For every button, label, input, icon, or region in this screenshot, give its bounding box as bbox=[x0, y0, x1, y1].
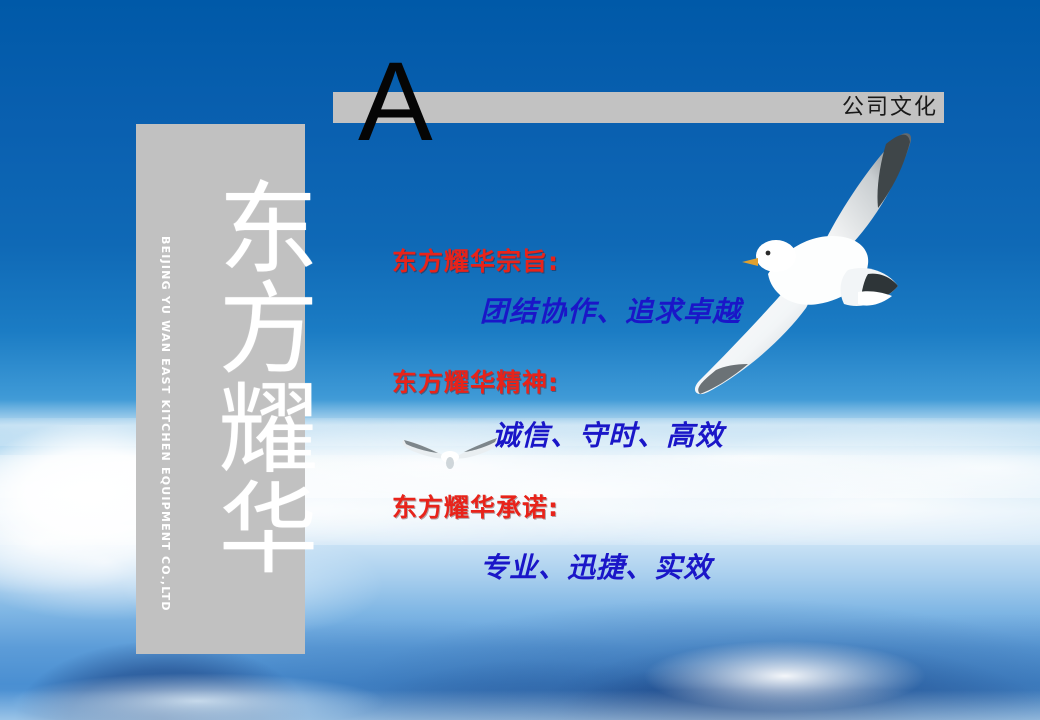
slide-canvas: 公司文化 A BEIJING YU WAN EAST KITCHEN EQUIP… bbox=[0, 0, 1040, 720]
block-3-heading: 东方耀华承诺: bbox=[392, 488, 559, 524]
block-1-heading: 东方耀华宗旨: bbox=[392, 242, 559, 278]
block-2-heading: 东方耀华精神: bbox=[392, 363, 559, 399]
block-2-value: 诚信、守时、高效 bbox=[492, 414, 724, 454]
block-3-value: 专业、迅捷、实效 bbox=[480, 546, 712, 586]
block-1-value: 团结协作、追求卓越 bbox=[480, 290, 741, 330]
content-area: 东方耀华宗旨: 团结协作、追求卓越 东方耀华精神: 诚信、守时、高效 东方耀华承… bbox=[0, 0, 1040, 720]
